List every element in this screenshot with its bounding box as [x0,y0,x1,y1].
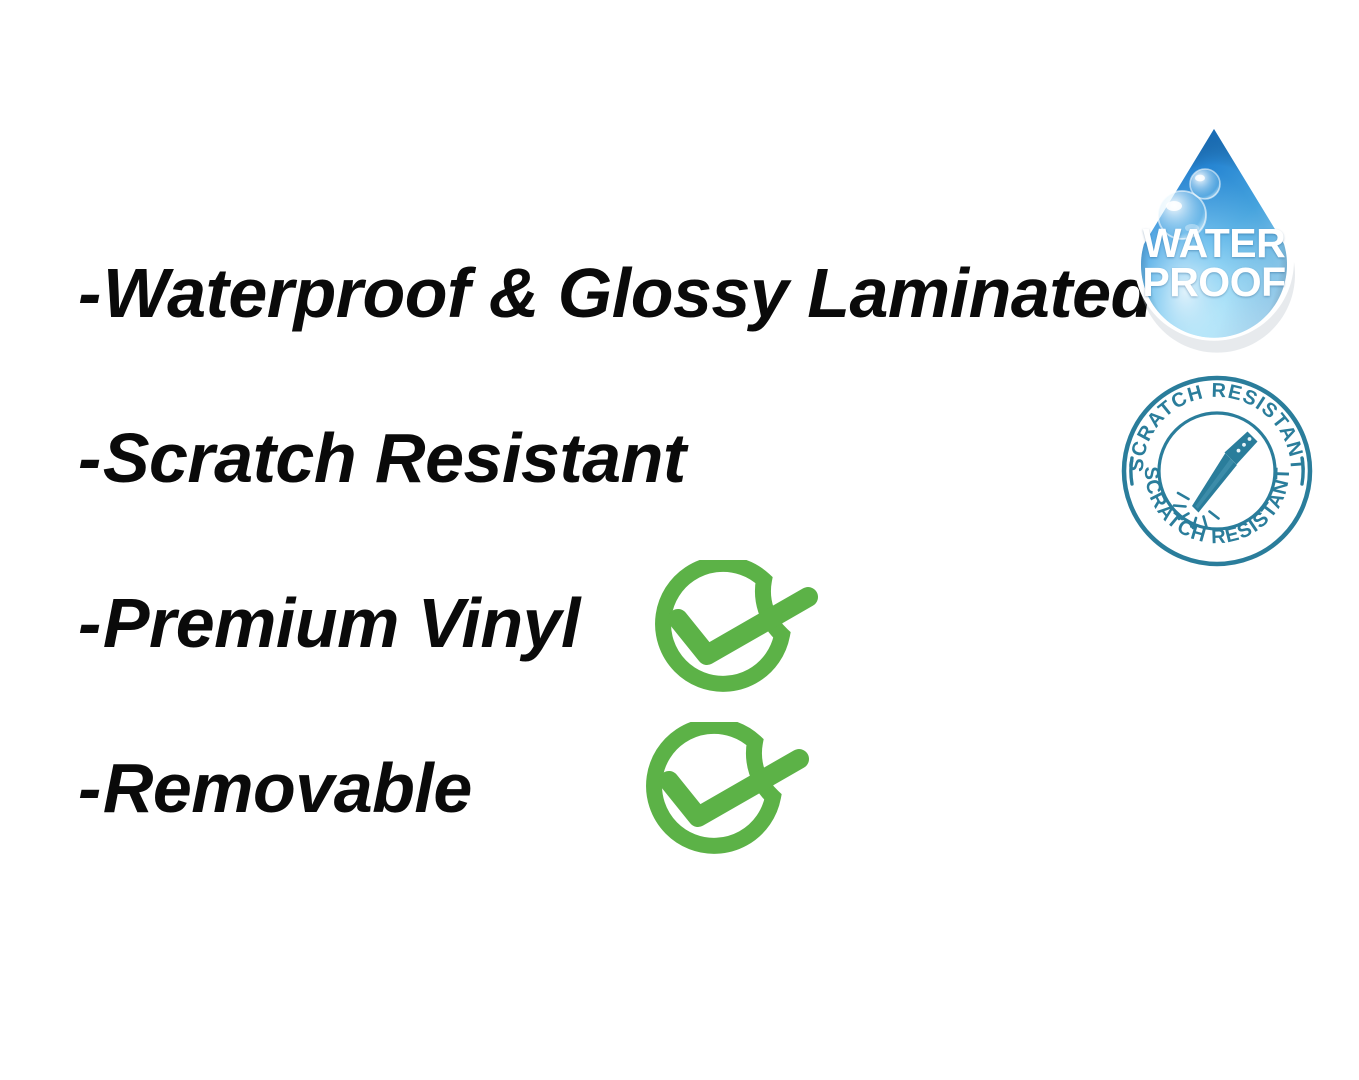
check-tick-icon [669,759,799,817]
feature-list: - Waterproof & Glossy Laminated - Scratc… [0,0,1120,1080]
feature-item-removable: - Removable [78,753,472,823]
stamp-arc-text-top: SCRATCH RESISTANT [1126,380,1309,473]
check-circle-premium-vinyl [645,560,837,710]
bullet-dash: - [78,258,101,328]
waterproof-badge: WATER PROOF [1108,112,1320,360]
knife-icon [1192,432,1258,513]
bullet-dash: - [78,588,101,658]
feature-label: Scratch Resistant [103,423,686,493]
droplet-edge-shade [1141,129,1287,338]
check-tick-icon [678,597,808,655]
feature-label: Removable [103,753,472,823]
feature-item-scratch-resistant: - Scratch Resistant [78,423,686,493]
bullet-dash: - [78,423,101,493]
feature-item-premium-vinyl: - Premium Vinyl [78,588,580,658]
feature-label: Premium Vinyl [103,588,580,658]
feature-item-waterproof: - Waterproof & Glossy Laminated [78,258,1153,328]
scratch-resistant-badge: SCRATCH RESISTANT SCRATCH RESISTANT [1118,372,1316,570]
product-feature-graphic: - Waterproof & Glossy Laminated - Scratc… [0,0,1359,1080]
bullet-dash: - [78,753,101,823]
check-circle-removable [636,722,828,872]
feature-label: Waterproof & Glossy Laminated [103,258,1153,328]
